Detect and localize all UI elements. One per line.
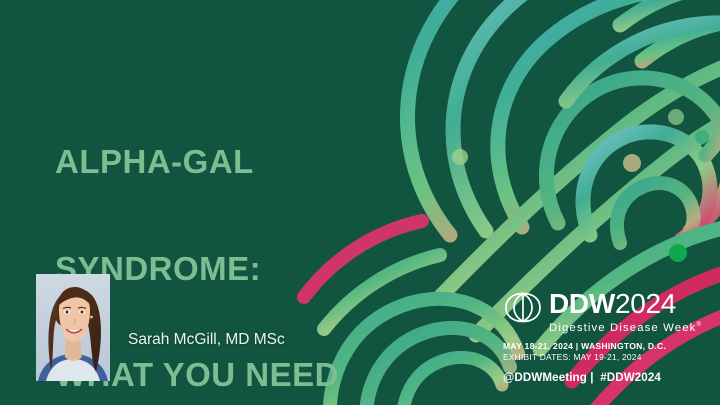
speaker-name: Sarah McGill, MD MSc — [128, 328, 414, 353]
ddw-year: 2024 — [615, 288, 676, 319]
ddw-tagline: Digestive Disease Week® — [549, 319, 701, 335]
ddw-dates-location: MAY 18-21, 2024 | WASHINGTON, D.C. — [503, 341, 698, 353]
ddw-butterfly-mark-icon — [503, 291, 543, 324]
ddw-social-handles: @DDWMeeting | #DDW2024 — [503, 371, 698, 384]
ddw-exhibit-dates: EXHIBIT DATES: MAY 19-21, 2024 — [503, 352, 698, 364]
title-line-1: ALPHA-GAL — [55, 144, 339, 180]
ddw-tagline-text: Digestive Disease Week — [549, 322, 696, 334]
presentation-slide: ALPHA-GAL SYNDROME: WHAT YOU NEED TO KNO… — [0, 0, 720, 405]
ddw-dates-block: MAY 18-21, 2024 | WASHINGTON, D.C. EXHIB… — [503, 341, 698, 364]
speaker-title: Associate Professor of Medicine — [128, 402, 414, 405]
ddw-logo-lockup: DDW2024 Digestive Disease Week® MAY 18-2… — [503, 290, 698, 384]
registered-mark-icon: ® — [696, 322, 700, 328]
speaker-details: Sarah McGill, MD MSc Associate Professor… — [128, 279, 414, 405]
ddw-letters: DDW — [549, 288, 615, 319]
ddw-wordmark: DDW2024 — [549, 290, 701, 317]
speaker-photo — [36, 274, 110, 381]
